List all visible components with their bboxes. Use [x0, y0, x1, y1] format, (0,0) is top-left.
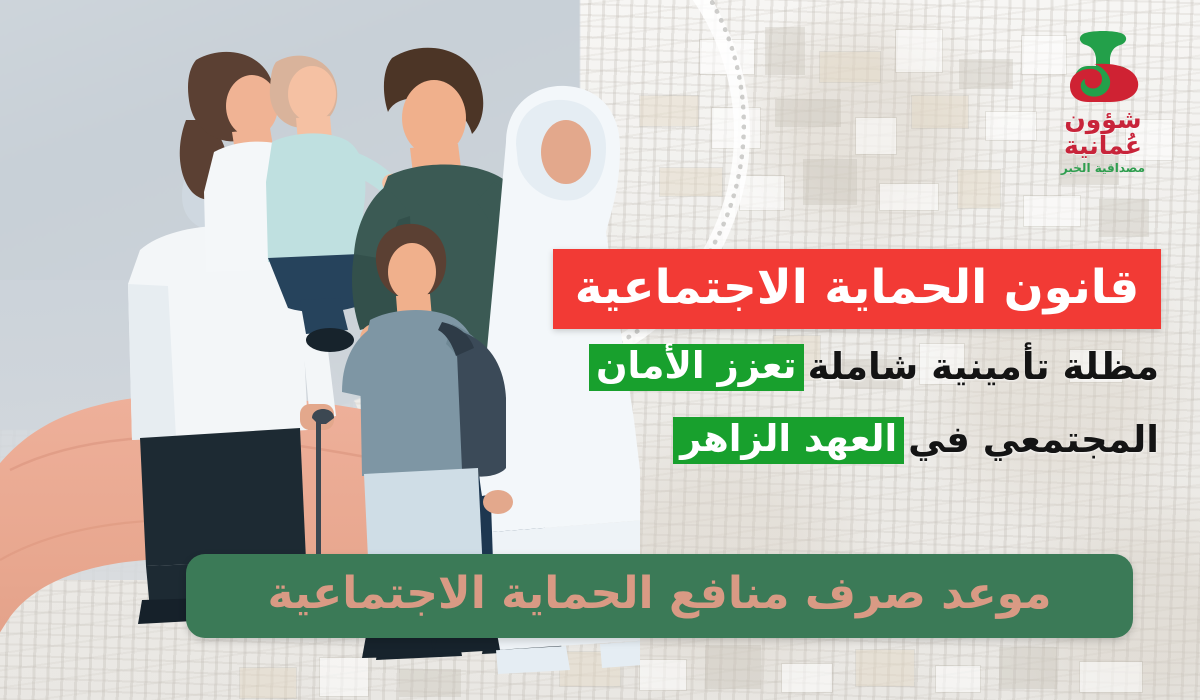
- subheadline-line-2-highlight: العهد الزاهر: [673, 417, 904, 464]
- poster-root: شؤون عُمانية مصداقية الخبر قانون الحماية…: [0, 0, 1200, 700]
- logo-tagline: مصداقية الخبر: [1028, 161, 1178, 175]
- site-logo[interactable]: شؤون عُمانية مصداقية الخبر: [1028, 28, 1178, 175]
- incense-burner-icon: [1028, 28, 1178, 106]
- headline-text: قانون الحماية الاجتماعية: [575, 264, 1139, 311]
- subheadline-line-1-highlight: تعزز الأمان: [589, 344, 804, 391]
- bottom-banner: موعد صرف منافع الحماية الاجتماعية: [186, 554, 1133, 638]
- headline-banner: قانون الحماية الاجتماعية: [553, 249, 1161, 329]
- logo-wordmark: شؤون عُمانية: [1028, 107, 1178, 160]
- subheadline-line-2-plain: المجتمعي في: [908, 421, 1159, 460]
- bottom-banner-text: موعد صرف منافع الحماية الاجتماعية: [268, 572, 1052, 616]
- subheadline-line-1-plain: مظلة تأمينية شاملة: [808, 348, 1159, 387]
- subheadline-line-1: مظلة تأمينية شاملة تعزز الأمان: [589, 344, 1159, 391]
- subheadline-line-2: المجتمعي في العهد الزاهر: [673, 417, 1159, 464]
